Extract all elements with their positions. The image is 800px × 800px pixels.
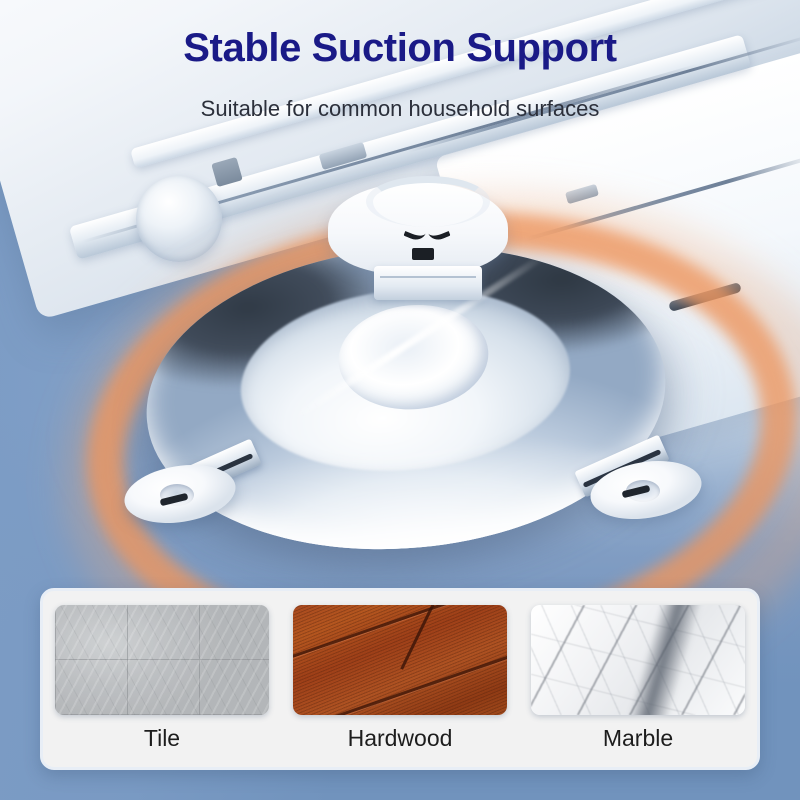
surface-label-hardwood: Hardwood xyxy=(348,725,453,752)
product-cap-slot xyxy=(374,266,482,300)
surface-swatch-tile xyxy=(55,605,269,715)
page-title: Stable Suction Support xyxy=(0,26,800,71)
surface-label-marble: Marble xyxy=(603,725,673,752)
promo-image: Stable Suction Support Suitable for comm… xyxy=(0,0,800,800)
product-round-knob xyxy=(136,176,222,262)
product-cap-arc xyxy=(366,176,490,227)
surface-card-marble: Marble xyxy=(529,605,747,752)
surface-label-tile: Tile xyxy=(144,725,180,752)
brand-chip-icon xyxy=(412,248,434,260)
page-subtitle: Suitable for common household surfaces xyxy=(0,96,800,122)
surface-card-hardwood: Hardwood xyxy=(291,605,509,752)
surface-swatch-hardwood xyxy=(293,605,507,715)
surface-card-tile: Tile xyxy=(53,605,271,752)
surface-swatch-marble xyxy=(531,605,745,715)
surfaces-panel: Tile Hardwood Marble xyxy=(40,588,760,770)
wood-plank-seam xyxy=(400,605,436,670)
product-cap-slot-line xyxy=(380,276,476,278)
